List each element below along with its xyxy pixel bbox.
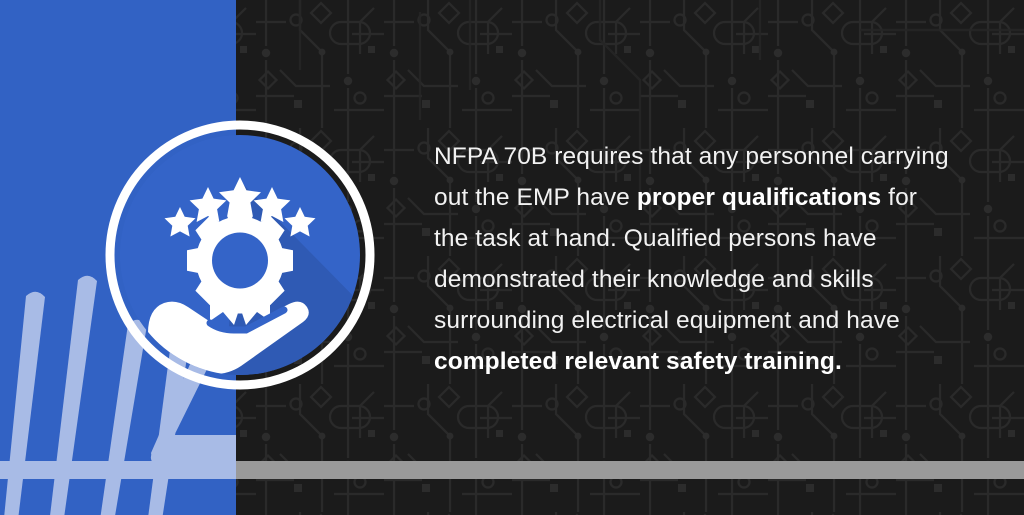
horizontal-divider-bar	[236, 461, 1024, 479]
paragraph-text: NFPA 70B requires that any personnel car…	[434, 143, 949, 375]
qualified-personnel-badge	[104, 119, 376, 391]
infographic-canvas: NFPA 70B requires that any personnel car…	[0, 0, 1024, 515]
divider-bar-blue-segment	[0, 461, 236, 479]
body-paragraph: NFPA 70B requires that any personnel car…	[434, 136, 954, 382]
emphasis-text: proper qualifications	[637, 184, 881, 211]
emphasis-text: completed relevant safety training.	[434, 348, 842, 375]
